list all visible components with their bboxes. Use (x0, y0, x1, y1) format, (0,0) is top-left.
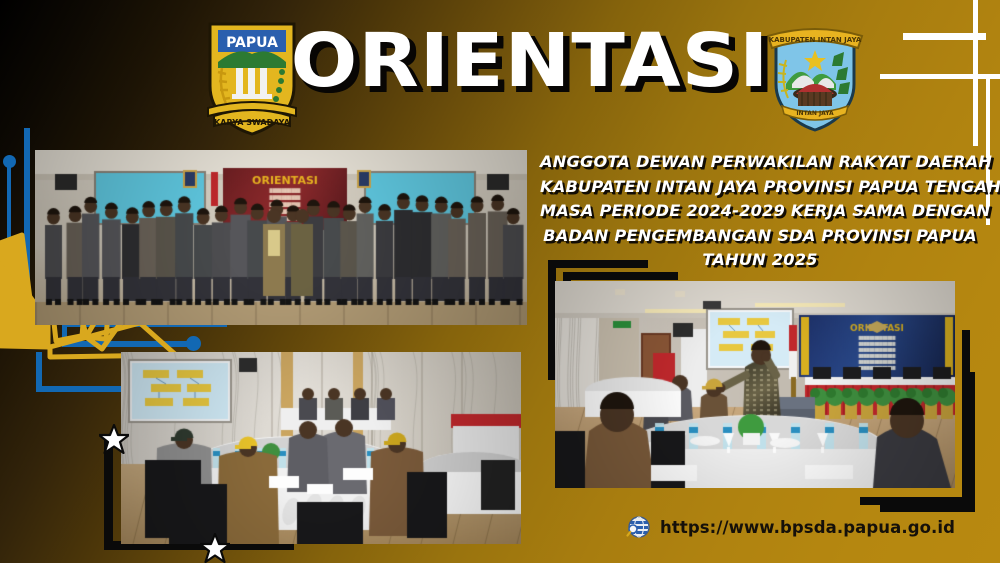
star-decoration-left (99, 424, 129, 454)
white-line-vertical-outer (973, 0, 978, 146)
subtitle-line-1: ANGGOTA DEWAN PERWAKILAN RAKYAT DAERAH (540, 150, 980, 175)
globe-search-icon (626, 515, 651, 540)
workshop-table-photo (121, 352, 521, 544)
group-photo (35, 150, 527, 325)
blue-dot-top (3, 155, 16, 168)
page-title: ORIENTASI (286, 24, 774, 98)
star-decoration-bottom (200, 533, 230, 563)
website-url[interactable]: https://www.bpsda.papua.go.id (660, 518, 955, 537)
photo3-bracket-br-inner (880, 372, 975, 512)
subtitle-line-3: MASA PERIODE 2024-2029 KERJA SAMA DENGAN (540, 199, 980, 224)
svg-text:INTAN JAYA: INTAN JAYA (796, 110, 834, 117)
svg-text:KABUPATEN INTAN JAYA: KABUPATEN INTAN JAYA (769, 36, 862, 44)
subtitle-line-2: KABUPATEN INTAN JAYA PROVINSI PAPUA TENG… (540, 175, 980, 200)
poster-canvas: PAPUA KARYA SWADAYA KABUPATEN INTAN JAYA (0, 0, 1000, 563)
svg-text:KARYA SWADAYA: KARYA SWADAYA (214, 118, 291, 127)
white-line-horizontal-long (880, 74, 1000, 79)
subtitle-block: ANGGOTA DEWAN PERWAKILAN RAKYAT DAERAH K… (540, 150, 980, 273)
website-bar[interactable]: https://www.bpsda.papua.go.id (626, 515, 955, 540)
intan-jaya-regency-emblem: KABUPATEN INTAN JAYA INTAN JAYA (762, 22, 868, 134)
svg-text:PAPUA: PAPUA (226, 35, 278, 51)
subtitle-line-4: BADAN PENGEMBANGAN SDA PROVINSI PAPUA (540, 224, 980, 249)
